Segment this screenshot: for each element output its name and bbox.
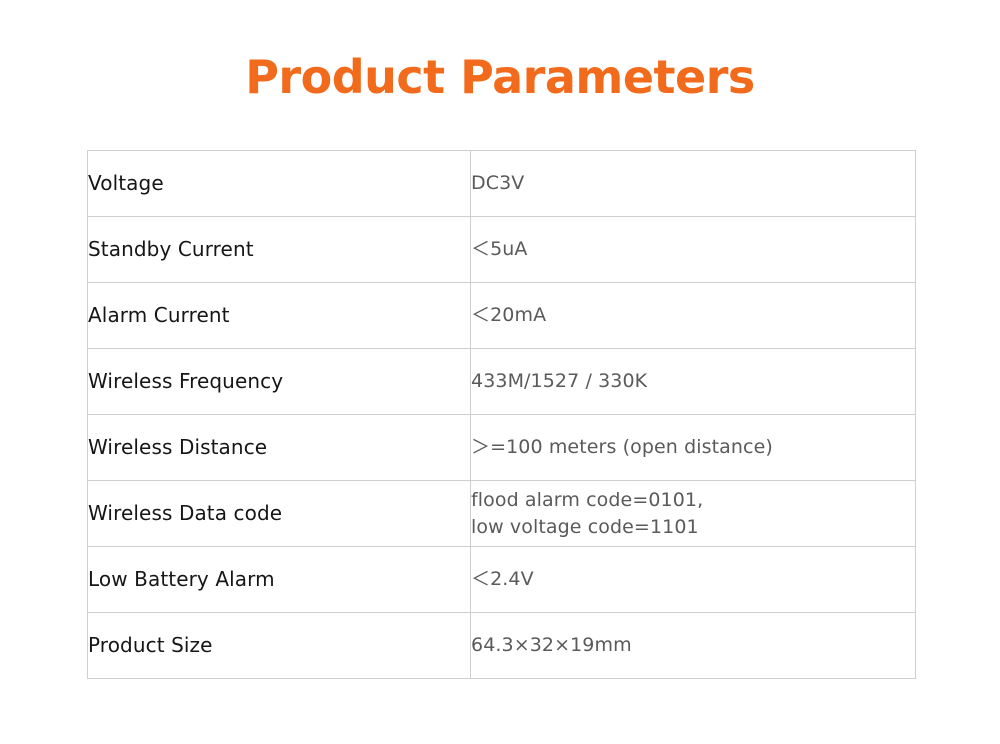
- spec-label-cell: Product Size: [88, 613, 471, 679]
- spec-label-cell: Wireless Data code: [88, 481, 471, 547]
- product-parameters-table: VoltageDC3VStandby Current＜5uAAlarm Curr…: [87, 150, 916, 679]
- spec-value-line: low voltage code=1101: [471, 515, 915, 540]
- spec-value-cell: 64.3×32×19mm: [471, 613, 916, 679]
- table-row: Wireless Data codeflood alarm code=0101,…: [88, 481, 916, 547]
- table-row: Product Size64.3×32×19mm: [88, 613, 916, 679]
- spec-value-cell: DC3V: [471, 151, 916, 217]
- spec-value-line: 64.3×32×19mm: [471, 633, 915, 658]
- table-row: Wireless Distance＞=100 meters (open dist…: [88, 415, 916, 481]
- spec-label-cell: Wireless Distance: [88, 415, 471, 481]
- page-title: Product Parameters: [0, 52, 1000, 103]
- spec-value-line: ＜20mA: [471, 303, 915, 328]
- table-row: Alarm Current＜20mA: [88, 283, 916, 349]
- spec-value-line: 433M/1527 / 330K: [471, 369, 915, 394]
- spec-label-cell: Alarm Current: [88, 283, 471, 349]
- product-parameters-page: Product Parameters VoltageDC3VStandby Cu…: [0, 0, 1000, 744]
- spec-label-cell: Voltage: [88, 151, 471, 217]
- spec-table-container: VoltageDC3VStandby Current＜5uAAlarm Curr…: [87, 150, 915, 679]
- spec-label-cell: Low Battery Alarm: [88, 547, 471, 613]
- spec-label-cell: Standby Current: [88, 217, 471, 283]
- spec-value-cell: flood alarm code=0101,low voltage code=1…: [471, 481, 916, 547]
- table-row: Low Battery Alarm＜2.4V: [88, 547, 916, 613]
- spec-table-body: VoltageDC3VStandby Current＜5uAAlarm Curr…: [88, 151, 916, 679]
- spec-value-line: DC3V: [471, 171, 915, 196]
- spec-label-cell: Wireless Frequency: [88, 349, 471, 415]
- table-row: Standby Current＜5uA: [88, 217, 916, 283]
- table-row: Wireless Frequency433M/1527 / 330K: [88, 349, 916, 415]
- spec-value-cell: ＜5uA: [471, 217, 916, 283]
- spec-value-cell: ＞=100 meters (open distance): [471, 415, 916, 481]
- spec-value-line: flood alarm code=0101,: [471, 488, 915, 513]
- spec-value-line: ＜2.4V: [471, 567, 915, 592]
- table-row: VoltageDC3V: [88, 151, 916, 217]
- spec-value-cell: ＜2.4V: [471, 547, 916, 613]
- spec-value-line: ＞=100 meters (open distance): [471, 435, 915, 460]
- spec-value-cell: ＜20mA: [471, 283, 916, 349]
- spec-value-cell: 433M/1527 / 330K: [471, 349, 916, 415]
- spec-value-line: ＜5uA: [471, 237, 915, 262]
